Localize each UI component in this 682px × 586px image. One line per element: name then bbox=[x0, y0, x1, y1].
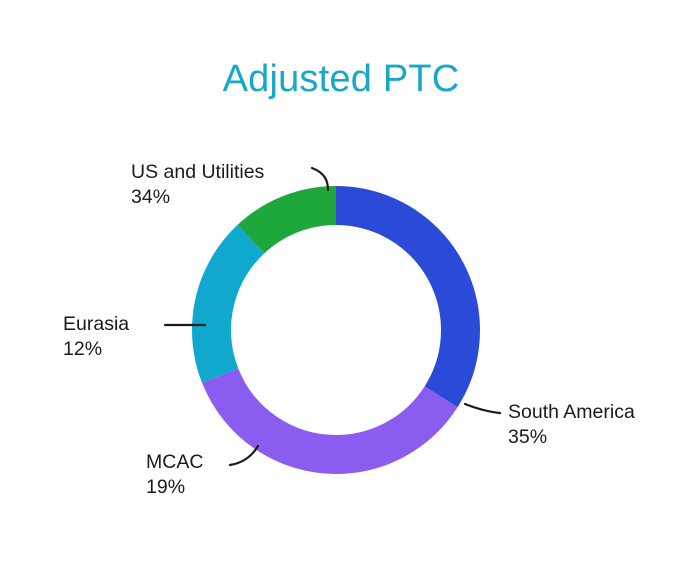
slice-label-name: Eurasia bbox=[63, 312, 129, 337]
slice-label-percent: 19% bbox=[146, 475, 203, 500]
slice-label-percent: 35% bbox=[508, 425, 635, 450]
donut-chart bbox=[0, 0, 682, 586]
slice-label-name: South America bbox=[508, 400, 635, 425]
donut-ring bbox=[212, 206, 461, 455]
slice-label-percent: 34% bbox=[131, 185, 264, 210]
slice-label-percent: 12% bbox=[63, 337, 129, 362]
slice-label-mcac: MCAC 19% bbox=[146, 450, 203, 500]
slice-label-us-and-utilities: US and Utilities 34% bbox=[131, 160, 264, 210]
slice-label-name: US and Utilities bbox=[131, 160, 264, 185]
leader-line-south-america bbox=[465, 404, 500, 413]
slice-label-eurasia: Eurasia 12% bbox=[63, 312, 129, 362]
slide-canvas: Adjusted PTC US and Utilities 34% Eurasi… bbox=[0, 0, 682, 586]
slice-label-south-america: South America 35% bbox=[508, 400, 635, 450]
slice-label-name: MCAC bbox=[146, 450, 203, 475]
leader-line-mcac bbox=[230, 446, 258, 465]
